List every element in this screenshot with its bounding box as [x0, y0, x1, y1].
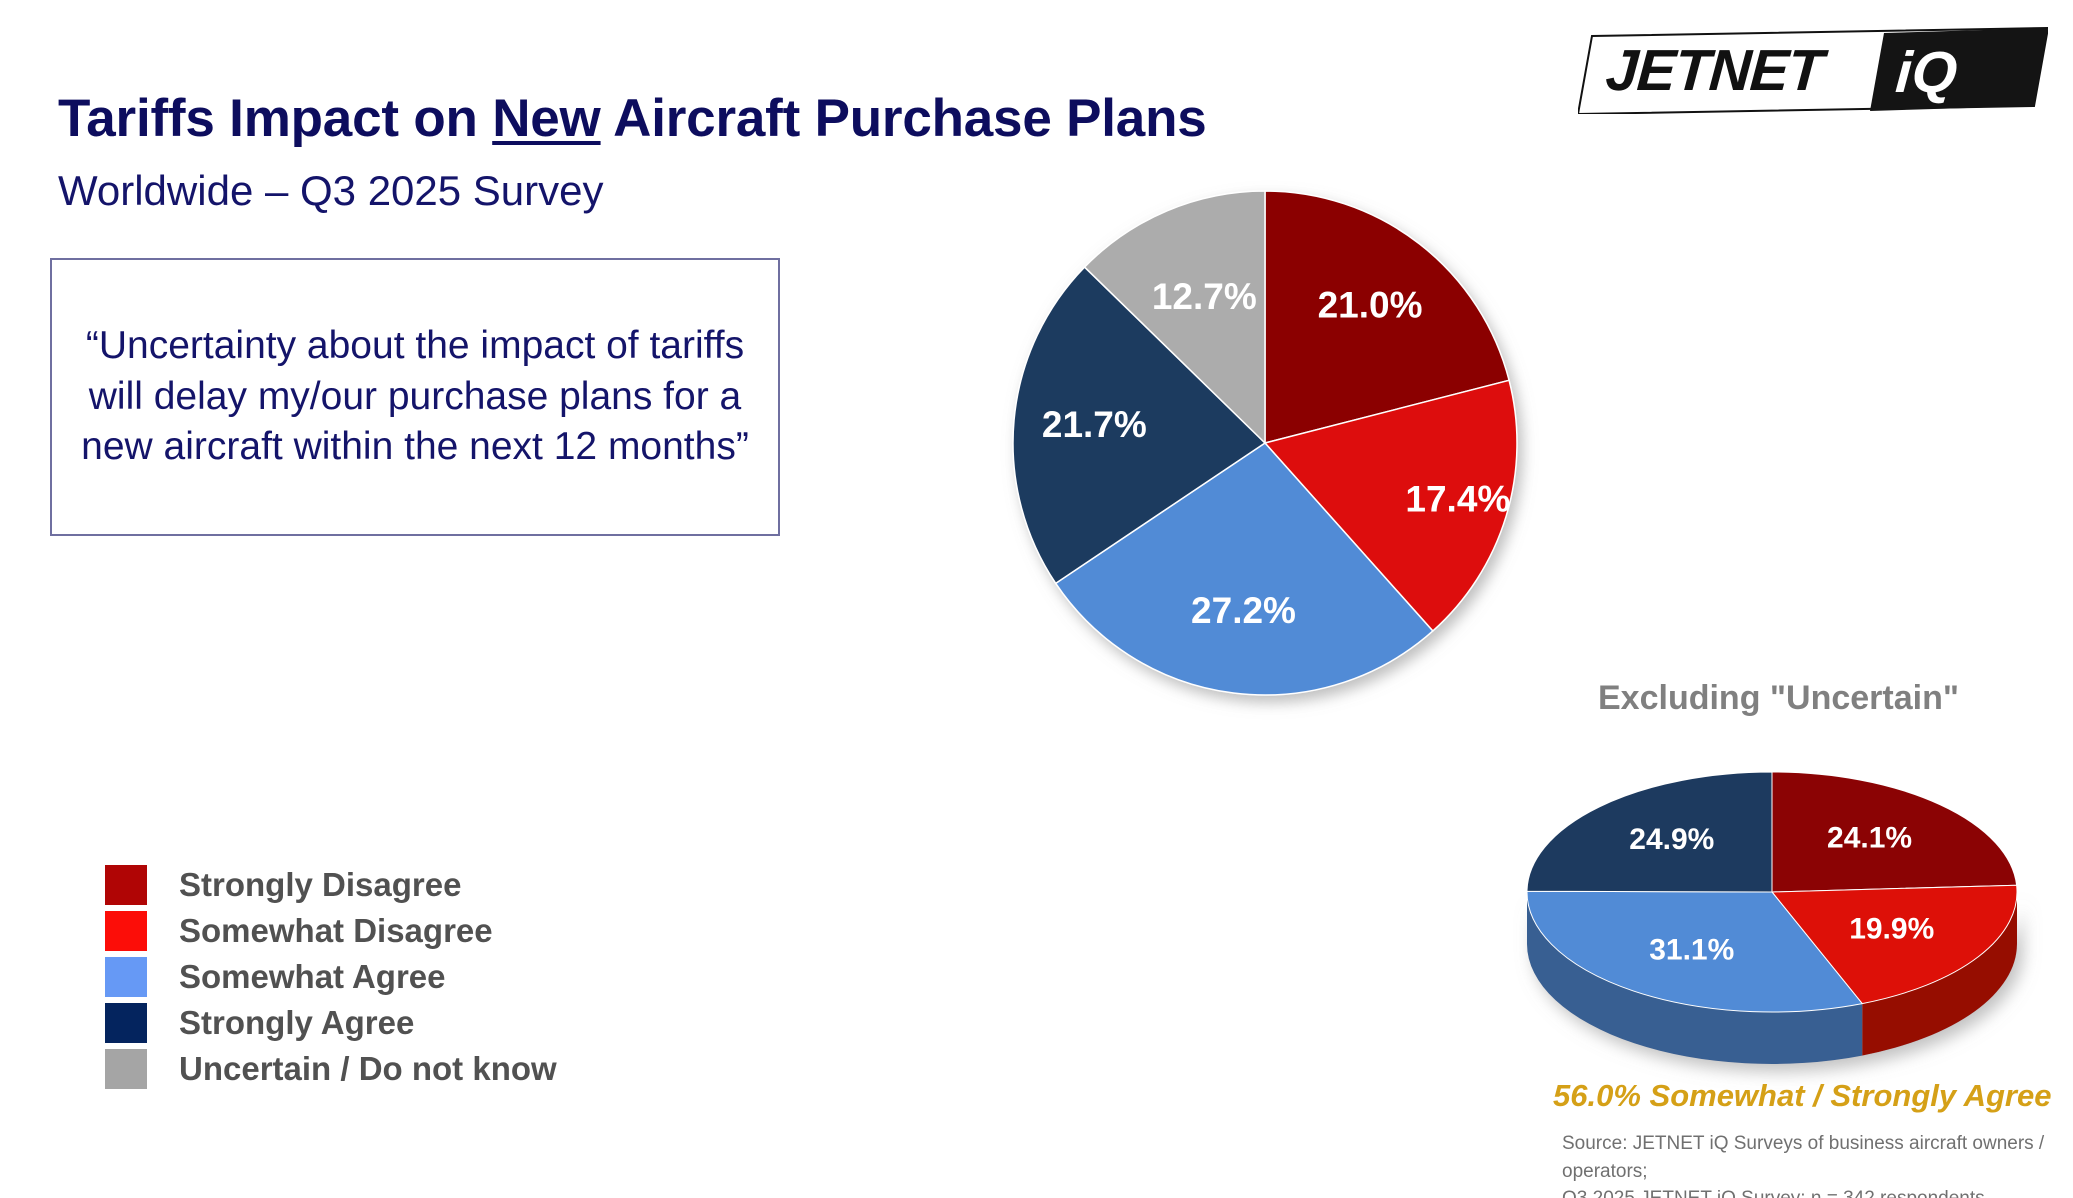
- legend-item-somewhat-disagree[interactable]: Somewhat Disagree: [105, 908, 557, 954]
- pie-slice-label: 27.2%: [1191, 590, 1296, 631]
- legend-item-uncertain[interactable]: Uncertain / Do not know: [105, 1046, 557, 1092]
- pie-slice-label: 21.0%: [1318, 284, 1423, 325]
- legend-item-label: Somewhat Disagree: [179, 912, 493, 950]
- pie-slice-label: 21.7%: [1042, 404, 1147, 445]
- quote-text: “Uncertainty about the impact of tariffs…: [66, 321, 764, 473]
- quote-box: “Uncertainty about the impact of tariffs…: [50, 258, 780, 536]
- pie-slice-label: 12.7%: [1152, 276, 1257, 317]
- pie-slice-label: 19.9%: [1849, 913, 1934, 946]
- legend-swatch-icon: [105, 1049, 147, 1089]
- legend-swatch-icon: [105, 1003, 147, 1043]
- legend-item-label: Uncertain / Do not know: [179, 1050, 557, 1088]
- legend-item-label: Strongly Disagree: [179, 866, 461, 904]
- source-note: Source: JETNET iQ Surveys of business ai…: [1562, 1130, 2073, 1198]
- title-prefix: Tariffs Impact on: [58, 89, 492, 148]
- excluding-uncertain-pie-chart: 24.1%19.9%31.1%24.9%: [1522, 742, 2022, 1062]
- page-title: Tariffs Impact on New Aircraft Purchase …: [58, 88, 1207, 149]
- pie-slice-label: 24.1%: [1827, 822, 1912, 855]
- page-subtitle: Worldwide – Q3 2025 Survey: [58, 167, 604, 215]
- legend-item-strongly-disagree[interactable]: Strongly Disagree: [105, 862, 557, 908]
- legend-item-label: Somewhat Agree: [179, 958, 446, 996]
- pie-slice-label: 24.9%: [1629, 823, 1714, 856]
- summary-annotation: 56.0% Somewhat / Strongly Agree: [1553, 1078, 2051, 1114]
- excluding-uncertain-caption: Excluding "Uncertain": [1598, 679, 1959, 718]
- title-suffix: Aircraft Purchase Plans: [601, 89, 1207, 148]
- legend-item-somewhat-agree[interactable]: Somewhat Agree: [105, 954, 557, 1000]
- title-underlined-word: New: [492, 89, 600, 148]
- jetnet-iq-logo: JETNET iQ: [1578, 14, 2048, 114]
- pie-slice-label: 31.1%: [1649, 933, 1734, 966]
- legend-swatch-icon: [105, 865, 147, 905]
- logo-suffix-text: iQ: [1894, 40, 1960, 105]
- legend-swatch-icon: [105, 911, 147, 951]
- logo-brand-text: JETNET: [1604, 38, 1830, 103]
- legend-item-label: Strongly Agree: [179, 1004, 414, 1042]
- main-pie-chart: 21.0%17.4%27.2%21.7%12.7%: [1010, 188, 1520, 698]
- legend-item-strongly-agree[interactable]: Strongly Agree: [105, 1000, 557, 1046]
- chart-legend: Strongly Disagree Somewhat Disagree Some…: [105, 862, 557, 1092]
- slide-canvas: JETNET iQ Tariffs Impact on New Aircraft…: [0, 0, 2073, 1198]
- legend-swatch-icon: [105, 957, 147, 997]
- pie-slice-label: 17.4%: [1405, 478, 1510, 519]
